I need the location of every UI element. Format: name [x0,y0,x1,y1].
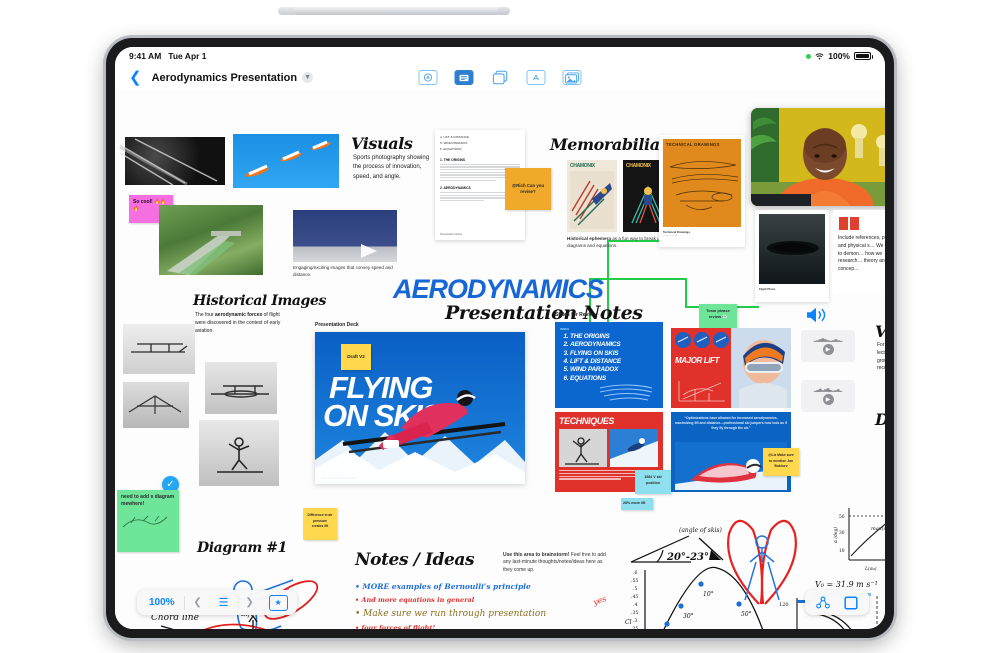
svg-text:.55: .55 [631,578,638,584]
connector-line [589,278,685,280]
technical-drawings-card[interactable]: TECHNICAL DRAWINGS Technical Drawings — … [659,135,745,247]
apple-pencil [278,6,510,16]
play-button-1[interactable]: ▶ [823,344,834,355]
facetime-call-window[interactable] [751,108,885,206]
whiteboard-canvas[interactable]: So cool! 🔥🔥🔥 Visuals Sports photography … [115,90,885,629]
techniques-photo-right [610,429,658,467]
document-title: Aerodynamics Presentation [152,72,298,84]
brainstorm-instructions: Use this area to brainstorm! Feel free t… [503,552,613,574]
play-triangle-icon[interactable] [355,240,395,262]
glider-art [123,382,189,428]
index-item: AERODYNAMICS [570,341,658,349]
play-button-2[interactable]: ▶ [823,394,834,405]
sticky-note-draft-v2[interactable]: Draft V2 [341,344,371,370]
techniques-photo-left [559,429,607,467]
sticky-text: need to add s diagram mewhere! [121,494,175,507]
title-aerodynamics: AERODYNAMICS [393,274,603,305]
jumpers-overlay [233,134,339,188]
photo-archival-4[interactable] [199,420,279,486]
engaging-caption: Engaging/exciting images that convey spe… [293,265,393,278]
svg-text:.6: .6 [633,570,637,576]
sticky-text: Draft V2 [347,354,365,360]
green-privacy-dot [806,54,811,59]
subtitle-presentation-notes: Presentation Notes [445,302,643,324]
chart2-y-ticks: 503010 [839,515,845,554]
frame-square-icon[interactable] [839,593,863,613]
pen-tool-button[interactable] [419,70,438,85]
sticky-note-tool-button[interactable] [455,70,474,85]
skier-portrait [731,328,791,408]
chart-annotation-angle-value: 20°-23° [666,552,709,563]
biplane-art [123,324,195,374]
sticky-text: @Rich Can you revise? [509,183,547,194]
battery-icon [854,52,871,60]
chart3-y-ticks: 1209060 [779,602,789,629]
svg-text:.5: .5 [633,586,637,592]
status-time: 9:41 AM [129,51,161,61]
chevron-left-icon[interactable]: ❮ [185,592,211,613]
speaker-wave-icon [805,306,827,324]
photo-bw-skier[interactable] [125,137,225,185]
svg-text:30: 30 [839,531,845,536]
photo-archival-1[interactable] [123,324,195,374]
major-lift-right [731,328,791,408]
quote-text: “Optimizations have allowed for increase… [675,416,787,430]
sticky-note-pressure-lift[interactable]: Difference in air pressure creates lift [303,508,337,540]
technical-drawings-art: TECHNICAL DRAWINGS [663,139,741,227]
notes-bullet: • Make sure we run through presentation [355,609,605,619]
sticky-note-v-position[interactable]: 1984 V ski position [635,470,671,494]
audio-waveform-1: ▂▃▅▇▅▃▂▃▅▃▂ [814,338,843,342]
media-tool-button[interactable] [563,70,582,85]
chart-ylabel: Cl [625,619,632,626]
historical-images-body: The four aerodynamic forces of flight we… [195,312,287,335]
svg-text:30°: 30° [683,613,694,620]
speaker-icon[interactable] [805,306,827,324]
major-lift-slide[interactable]: MAJOR LIFT [671,328,791,408]
sticky-text: Team please review 👀 [706,308,730,319]
techniques-title: TECHNIQUES [559,416,659,426]
chart2-xlabel: L(α₀) [864,565,877,572]
chevron-down-icon[interactable]: ▼ [302,72,313,83]
shapes-tool-button[interactable] [491,70,510,85]
audio-clip-2[interactable]: ▂▄▆▃▅▇▄▂▃▅▂ ▶ [801,380,855,412]
pencil-cap [498,7,510,15]
svg-text:10: 10 [839,549,845,554]
text-box-tool-button[interactable] [527,70,546,85]
sticky-note-need-diagram[interactable]: need to add s diagram mewhere! [117,490,179,552]
poster-title: CHAMONIX [570,163,614,169]
index-item: THE ORIGINS [570,333,658,341]
heading-diagram-1: Diagram #1 [197,540,287,556]
sticky-note-pct-more-lift[interactable]: 28% more lift [621,498,653,510]
poster-art [570,171,614,229]
photo-archival-3[interactable] [123,382,189,428]
back-chevron-icon[interactable]: ❮ [129,70,142,85]
pencil-body [294,7,500,15]
photo-three-jumpers[interactable] [233,134,339,188]
chart-alpha-vs-L[interactable]: 503010 α (deg) L(α₀) max(α₀,A₀) [831,500,885,574]
heading-visuals: Visuals [351,134,413,153]
references-card[interactable]: Include references, print and physical s… [833,210,885,294]
label-slides-for-review: Slides for Review [555,312,596,318]
sticky-text: @Liz Make sure to mention Jan Bokloev [768,453,794,468]
book-icon [838,215,860,231]
audio-clip-1[interactable]: ▂▃▅▇▅▃▂▃▅▃▂ ▶ [801,330,855,362]
silhouette [759,214,825,284]
chevron-right-icon[interactable]: ❯ [237,592,263,613]
notes-bullet: • four forces of flight! [355,624,605,629]
facetime-video [751,108,885,206]
ipad-screen: 9:41 AM Tue Apr 1 100% ❮ Aerodynamics Pr… [115,47,885,629]
svg-text:.3: .3 [633,618,637,624]
skier-art [199,420,279,486]
references-text: Include references, print and physical s… [838,235,885,274]
wifi-icon [815,53,824,60]
ipad-device-frame: 9:41 AM Tue Apr 1 100% ❮ Aerodynamics Pr… [106,38,894,638]
ink-v0-label: V₀ = 31.9 m s⁻¹ [815,580,878,589]
canvas-toolbar [419,70,582,85]
audio-waveform-2: ▂▄▆▃▅▇▄▂▃▅▂ [814,388,842,392]
index-wave-art [598,382,658,402]
zoom-toolbar[interactable]: 100% ❮ ☰ ❯ ★ [137,590,297,615]
list-icon[interactable]: ☰ [211,592,237,613]
sticky-sketch [121,511,171,533]
flight-photo-image [759,214,825,284]
photo-overlay [125,137,225,185]
heading-voice: Vo [875,322,885,341]
share-node-icon[interactable] [811,593,835,613]
svg-text:.25: .25 [631,626,638,629]
poster-chamonix-left[interactable]: CHAMONIX [567,160,617,232]
flight-photo-card[interactable]: Flight Photo [755,210,829,302]
battery-percent: 100% [828,51,850,61]
index-item: WIND PARADOX [570,366,658,374]
ink-arrow-head [709,550,721,560]
label-presentation-deck: Presentation Deck [315,322,359,328]
chart2-ylabel: α (deg) [834,527,839,543]
lift-diagram [675,377,729,405]
photo-ski-jump-hill[interactable] [159,205,263,275]
svg-text:10°: 10° [703,591,714,598]
heading-diagrams: Di [875,410,885,429]
chart2-annotation: max(α₀,A₀) [871,525,885,532]
heading-notes-ideas: Notes / Ideas [355,550,474,570]
svg-text:120: 120 [779,602,789,608]
status-bar: 9:41 AM Tue Apr 1 100% [115,47,885,65]
svg-text:.4: .4 [633,602,637,608]
index-list: THE ORIGINS AERODYNAMICS FLYING ON SKIS … [570,333,658,383]
presentation-deck-slide[interactable]: FLYING ON SKIS Aerodynamics Presentation… [315,332,525,484]
index-item: FLYING ON SKIS [570,350,658,358]
connector-line [685,278,687,306]
sticky-text: Difference in air pressure creates lift [308,513,333,528]
notes-bullet-list: • MORE examples of Bernoulli's principle… [355,582,605,629]
notes-bullet: • And more equations in general [355,596,605,604]
heading-memorabilia: Memorabilia [550,135,660,154]
drawing-lines [666,149,744,219]
navigation-bar: ❮ Aerodynamics Presentation ▼ [115,65,885,90]
svg-text:.45: .45 [631,594,638,600]
notes-bullet: • MORE examples of Bernoulli's principle [355,582,605,591]
voice-body-text: For re… lectur… group… recon… [877,342,885,373]
major-lift-left: MAJOR LIFT [671,328,731,408]
star-button-icon[interactable]: ★ [269,595,288,611]
doc-footer: Presentation Notes [440,233,462,236]
monoplane-art [205,362,277,414]
svg-text:50: 50 [839,515,845,520]
status-date: Tue Apr 1 [168,51,206,61]
heading-historical-images: Historical Images [193,293,326,309]
techniques-photos [559,429,659,467]
chart-y-ticks: .6.55.5 .45.4.35 .3.25.2 .15.1.05 [631,570,638,629]
sticky-text: 28% more lift [623,501,645,505]
canvas-tools-toolbar[interactable] [805,590,869,615]
sticky-text: 1984 V ski position [644,475,661,485]
technical-drawings-title: TECHNICAL DRAWINGS [666,142,738,147]
index-kicker: INDEX [560,327,658,331]
lift-badges [674,330,732,352]
sticky-note-mention-bokloev[interactable]: @Liz Make sure to mention Jan Bokloev [763,448,799,476]
deck-footer: Aerodynamics Presentation [321,476,355,480]
major-lift-title: MAJOR LIFT [675,356,719,365]
visuals-body-text: Sports photography showing the process o… [353,154,433,182]
index-item: LIFT & DISTANCE [570,358,658,366]
doc-section-1-title: 1. THE ORIGINS [440,158,520,162]
zoom-level[interactable]: 100% [140,597,184,608]
sticky-note-revise[interactable]: @Rich Can you revise? [505,168,551,210]
doc-toc: 4. LIFT & DISTANCE 5. WIND PARADOX 6. EQ… [440,135,520,153]
svg-text:.35: .35 [631,610,638,616]
flight-photo-caption: Flight Photo [759,287,825,291]
index-slide[interactable]: INDEX THE ORIGINS AERODYNAMICS FLYING ON… [555,322,663,408]
photo-archival-2[interactable] [205,362,277,414]
hill-overlay [159,205,263,275]
